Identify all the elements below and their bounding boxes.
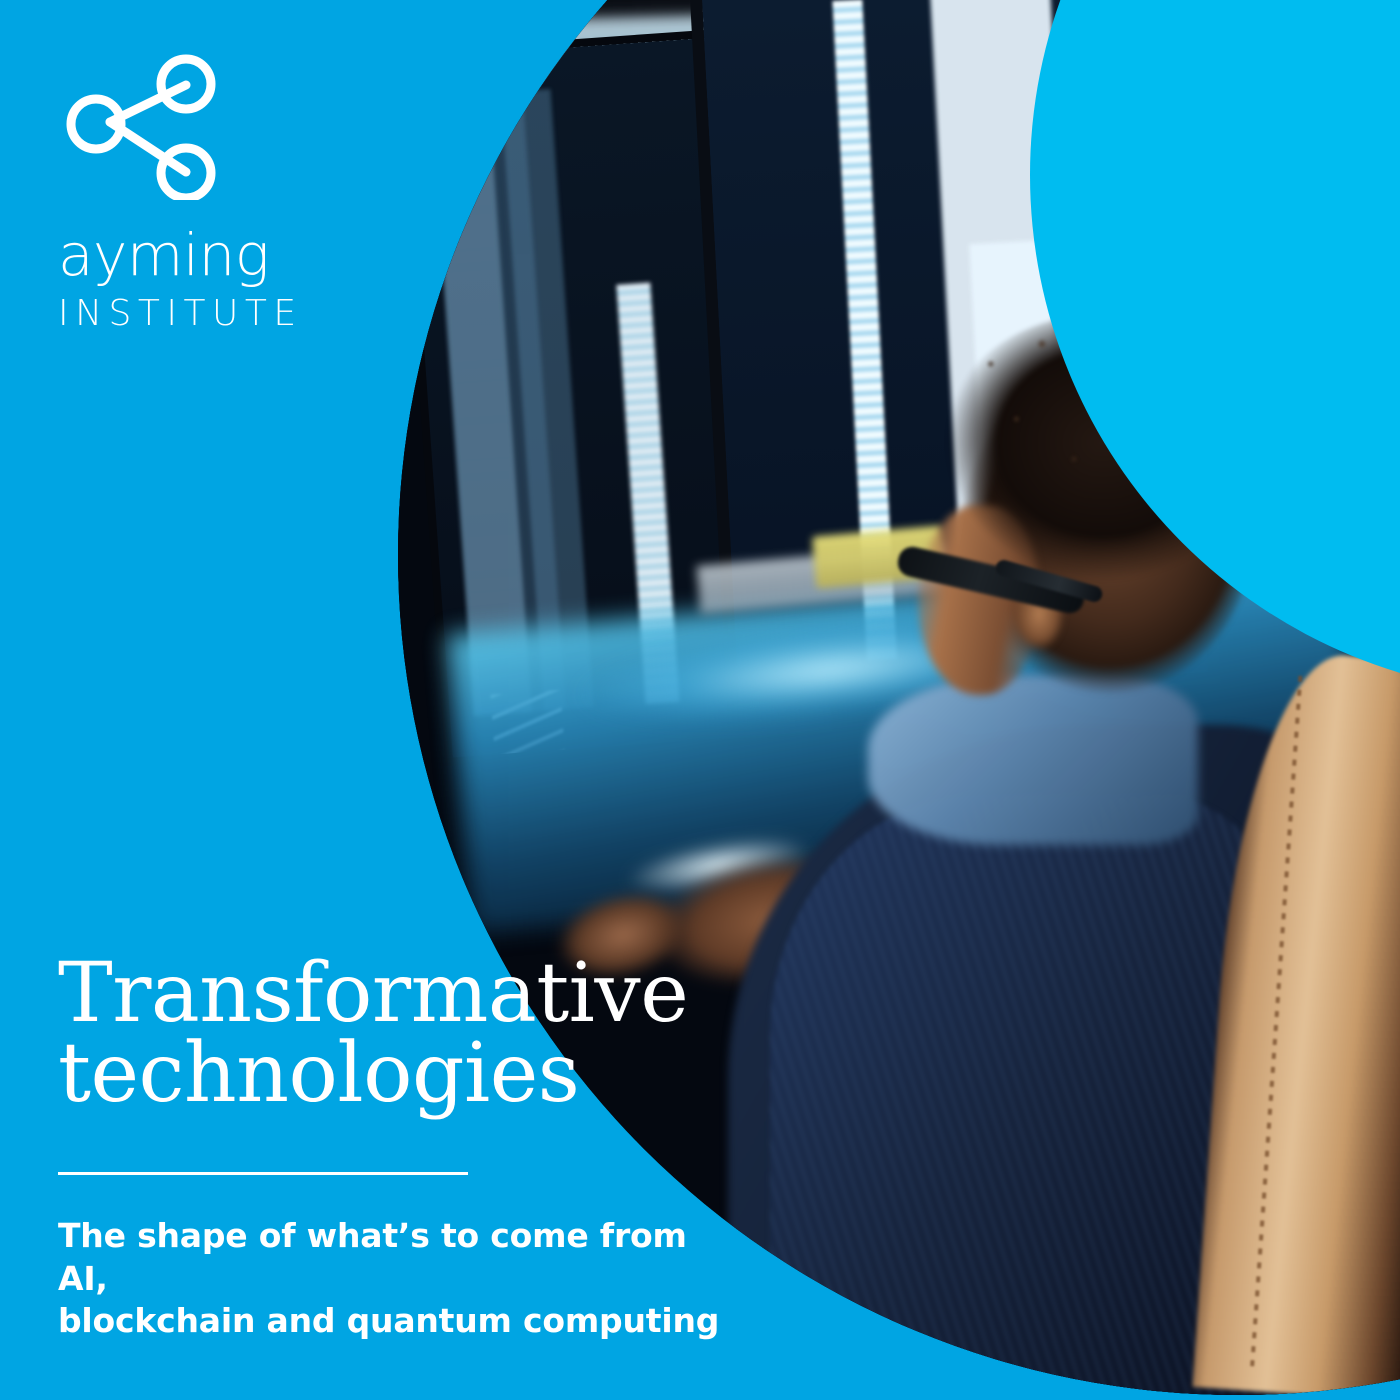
page-subtitle: The shape of what’s to come from AI, blo…: [58, 1215, 738, 1342]
share-network-icon: [58, 40, 218, 200]
cover-text-block: Transformative technologies The shape of…: [58, 954, 738, 1342]
page-title: Transformative technologies: [58, 954, 738, 1115]
brand-subname: INSTITUTE: [58, 296, 303, 332]
title-divider: [58, 1172, 468, 1175]
brand-lockup: ayming INSTITUTE: [58, 40, 303, 332]
brand-name: ayming: [58, 226, 303, 284]
cover-page: ayming INSTITUTE Transformative technolo…: [0, 0, 1400, 1400]
photo-person-collar: [868, 675, 1198, 845]
